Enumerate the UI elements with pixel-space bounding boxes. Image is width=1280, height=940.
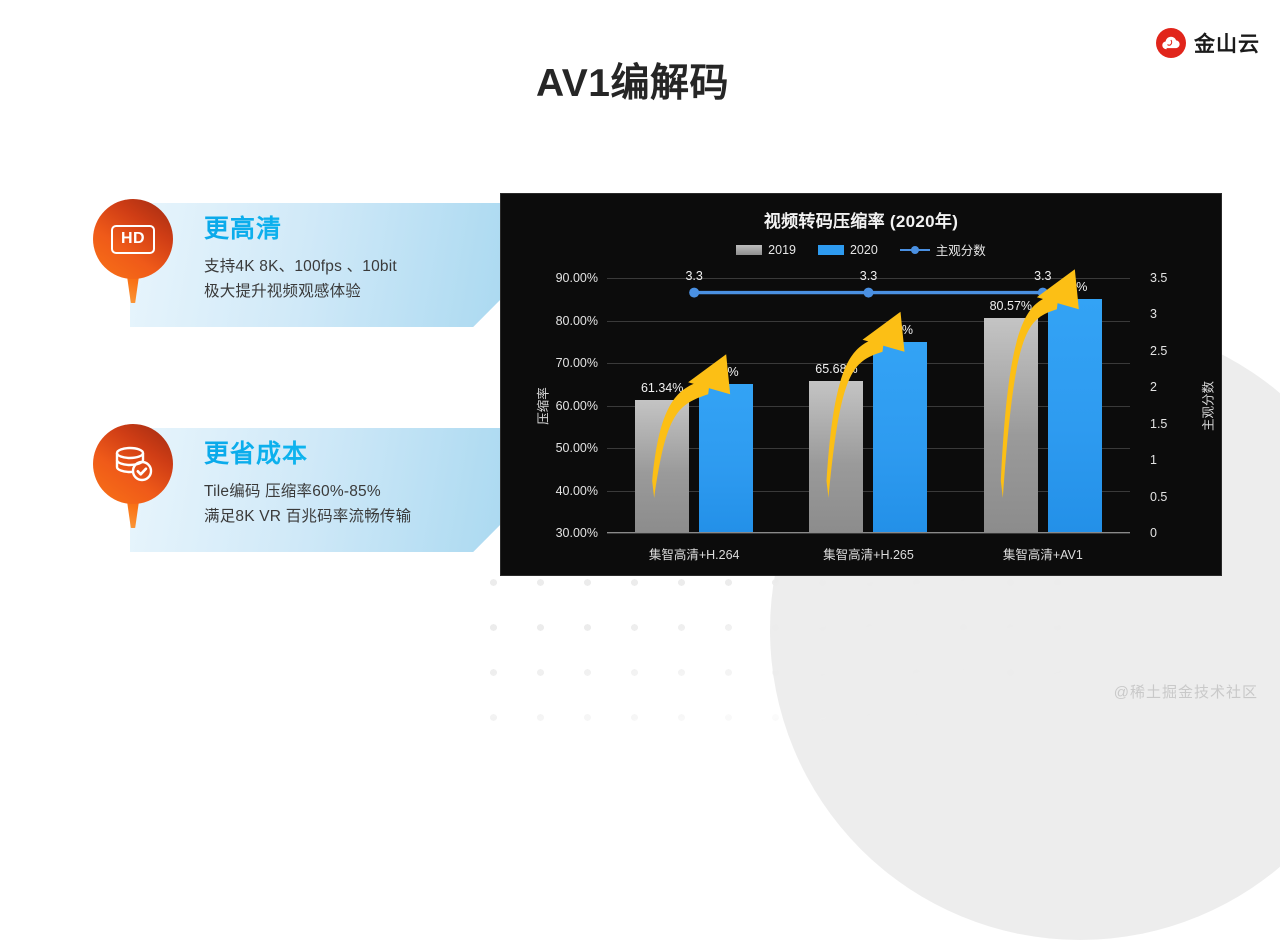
hd-badge-label: HD [111, 225, 155, 254]
y-axis-tick-label: 60.00% [556, 399, 598, 413]
legend-item-score: 主观分数 [900, 240, 986, 259]
chart-panel: 视频转码压缩率 (2020年) 2019 2020 主观分数 压缩率 主观分数 … [500, 193, 1222, 576]
feature-line: 支持4K 8K、100fps 、10bit [204, 254, 514, 279]
legend-label: 主观分数 [936, 240, 986, 259]
legend-label: 2020 [850, 243, 878, 257]
score-line-marker [864, 288, 874, 298]
score-value-label: 3.3 [1034, 269, 1051, 283]
gridline [607, 533, 1130, 534]
feature-card-cost: 更省成本 Tile编码 压缩率60%-85% 满足8K VR 百兆码率流畅传输 [130, 428, 520, 552]
y-axis-tick-label: 40.00% [556, 484, 598, 498]
score-value-label: 3.3 [860, 269, 877, 283]
feature-heading: 更省成本 [204, 440, 514, 469]
y2-axis-tick-label: 1 [1150, 453, 1157, 467]
y2-axis-tick-label: 2.5 [1150, 344, 1167, 358]
chart-title: 视频转码压缩率 (2020年) [501, 207, 1221, 232]
x-axis-category-label: 集智高清+H.264 [649, 544, 740, 563]
y-axis-tick-label: 70.00% [556, 356, 598, 370]
feature-line: 极大提升视频观感体验 [204, 279, 514, 304]
cloud-icon [1156, 28, 1186, 58]
score-line-marker [689, 288, 699, 298]
database-check-icon [93, 424, 173, 504]
legend-line-marker-icon [900, 245, 930, 255]
chart-legend: 2019 2020 主观分数 [501, 240, 1221, 259]
feature-card-body: 更高清 支持4K 8K、100fps 、10bit 极大提升视频观感体验 [204, 215, 514, 304]
dot-pattern [470, 560, 1090, 730]
legend-item-2019: 2019 [736, 243, 796, 257]
feature-line: Tile编码 压缩率60%-85% [204, 479, 514, 504]
score-value-label: 3.3 [685, 269, 702, 283]
y2-axis-tick-label: 2 [1150, 380, 1157, 394]
feature-heading: 更高清 [204, 215, 514, 244]
feature-card-body: 更省成本 Tile编码 压缩率60%-85% 满足8K VR 百兆码率流畅传输 [204, 440, 514, 529]
y2-axis-tick-label: 3.5 [1150, 271, 1167, 285]
plot-area: 压缩率 主观分数 30.00%40.00%50.00%60.00%70.00%8… [607, 278, 1130, 533]
feature-pin-hd: HD [93, 199, 173, 303]
feature-line: 满足8K VR 百兆码率流畅传输 [204, 504, 514, 529]
y2-axis-tick-label: 0.5 [1150, 490, 1167, 504]
y-axis-tick-label: 50.00% [556, 441, 598, 455]
x-axis-category-label: 集智高清+H.265 [823, 544, 914, 563]
legend-label: 2019 [768, 243, 796, 257]
score-line-marker [1038, 288, 1048, 298]
y2-axis-tick-label: 3 [1150, 307, 1157, 321]
feature-pin-cost [93, 424, 173, 528]
y2-axis-label: 主观分数 [1198, 380, 1217, 430]
watermark: @稀土掘金技术社区 [1114, 681, 1258, 702]
page-title: AV1编解码 [536, 52, 729, 108]
hd-badge-icon: HD [93, 199, 173, 279]
y-axis-tick-label: 80.00% [556, 314, 598, 328]
y2-axis-tick-label: 1.5 [1150, 417, 1167, 431]
brand-logo: 金山云 [1156, 28, 1260, 58]
legend-item-2020: 2020 [818, 243, 878, 257]
y-axis-tick-label: 30.00% [556, 526, 598, 540]
x-axis-baseline [607, 532, 1130, 533]
y-axis-label: 压缩率 [532, 387, 551, 425]
score-line-series [607, 278, 1130, 533]
x-axis-category-label: 集智高清+AV1 [1003, 544, 1083, 563]
brand-name: 金山云 [1194, 28, 1260, 58]
legend-swatch-icon [736, 245, 762, 255]
legend-swatch-icon [818, 245, 844, 255]
y-axis-tick-label: 90.00% [556, 271, 598, 285]
feature-card-hd: 更高清 支持4K 8K、100fps 、10bit 极大提升视频观感体验 [130, 203, 520, 327]
y2-axis-tick-label: 0 [1150, 526, 1157, 540]
